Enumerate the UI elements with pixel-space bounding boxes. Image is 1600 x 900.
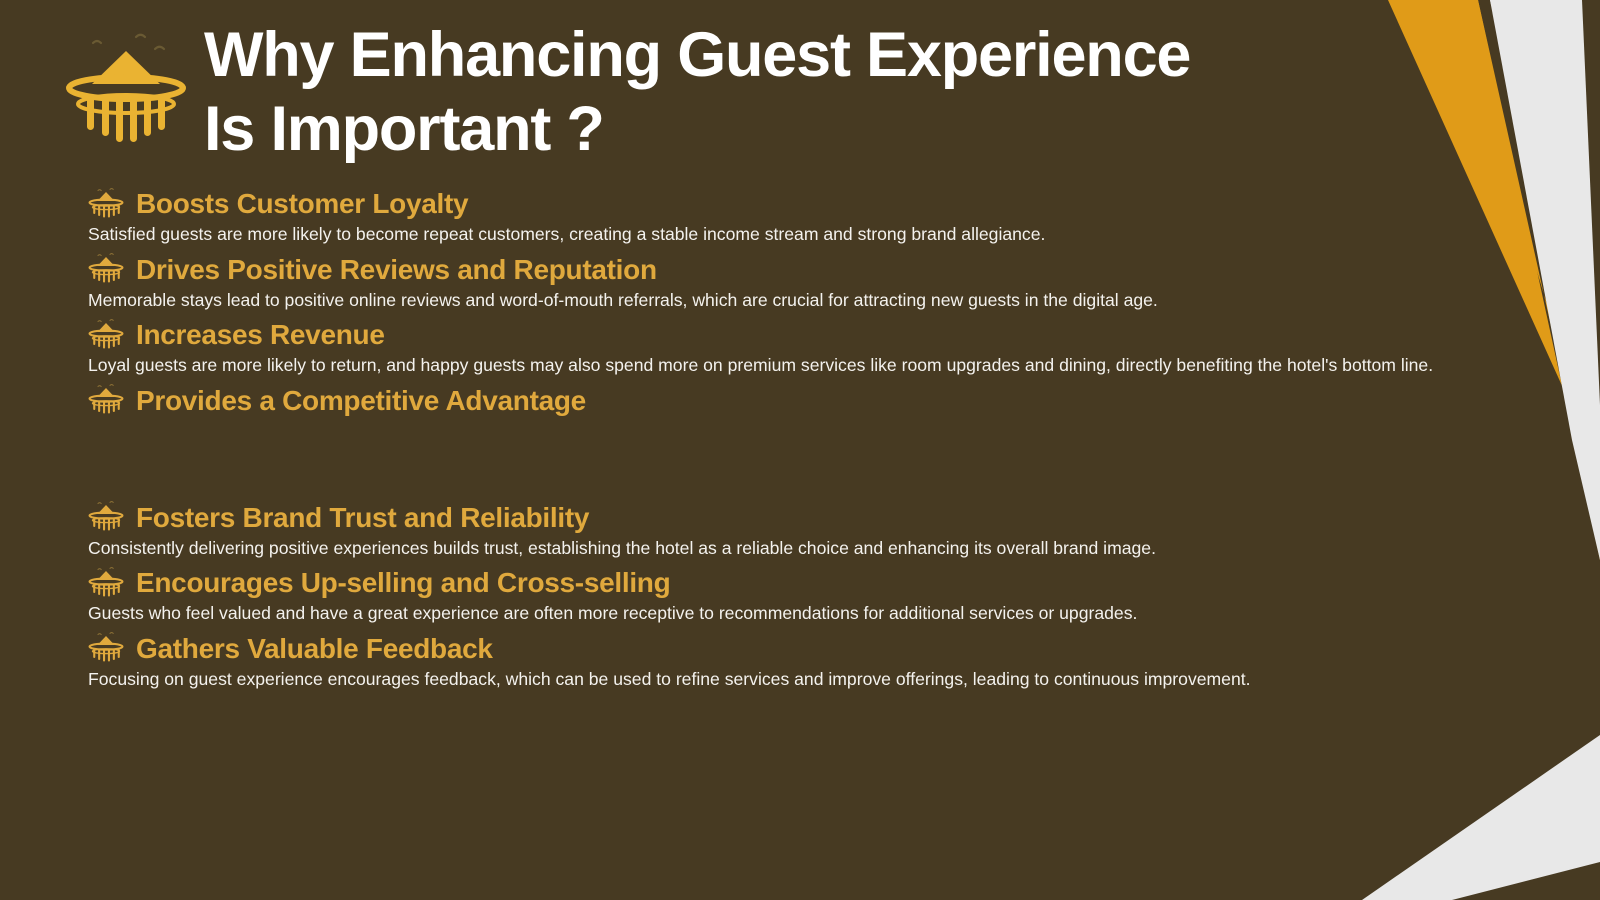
benefit-section-4: Provides a Competitive Advantage [86,383,1492,494]
benefit-body: Memorable stays lead to positive online … [88,289,1492,312]
benefit-body: Satisfied guests are more likely to beco… [88,223,1492,246]
pavilion-logo [60,26,192,144]
benefit-body: Loyal guests are more likely to return, … [88,354,1492,377]
benefit-title: Boosts Customer Loyalty [136,186,468,221]
white-ribbon-upper-body [1490,0,1600,560]
slide-header: Why Enhancing Guest Experience Is Import… [0,0,1190,167]
benefit-body: Consistently delivering positive experie… [88,537,1492,560]
benefit-heading-row: Boosts Customer Loyalty [86,186,1492,221]
benefit-section-2: Drives Positive Reviews and Reputation M… [86,252,1492,312]
benefit-body: Focusing on guest experience encourages … [88,668,1492,691]
benefit-heading-row: Fosters Brand Trust and Reliability [86,500,1492,535]
brown-corner-wedge-bottom [1452,862,1600,900]
benefit-title: Provides a Competitive Advantage [136,383,586,418]
benefit-title: Encourages Up-selling and Cross-selling [136,565,670,600]
benefit-title: Increases Revenue [136,317,385,352]
pavilion-bullet-icon [86,383,126,417]
pavilion-bullet-icon [86,500,126,534]
benefit-body: Guests who feel valued and have a great … [88,602,1492,625]
pavilion-bullet-icon [86,566,126,600]
white-ribbon-upper [1490,0,1600,560]
white-ribbon-lower-body [1362,735,1600,900]
pavilion-bullet-icon [86,187,126,221]
birds-icon [93,35,164,49]
title-line-1: Why Enhancing Guest Experience [204,18,1190,92]
title-line-2: Is Important ? [204,92,1190,166]
pavilion-bullet-icon [86,318,126,352]
benefit-section-6: Encourages Up-selling and Cross-selling … [86,565,1492,625]
benefits-list: Boosts Customer Loyalty Satisfied guests… [86,186,1492,696]
benefit-heading-row: Increases Revenue [86,317,1492,352]
benefit-title: Fosters Brand Trust and Reliability [136,500,589,535]
benefit-heading-row: Drives Positive Reviews and Reputation [86,252,1492,287]
benefit-heading-row: Gathers Valuable Feedback [86,631,1492,666]
pavilion-bullet-icon [86,252,126,286]
benefit-title: Gathers Valuable Feedback [136,631,493,666]
benefit-section-1: Boosts Customer Loyalty Satisfied guests… [86,186,1492,246]
benefit-heading-row: Encourages Up-selling and Cross-selling [86,565,1492,600]
slide-canvas: Why Enhancing Guest Experience Is Import… [0,0,1600,900]
benefit-heading-row: Provides a Competitive Advantage [86,383,1492,418]
page-title: Why Enhancing Guest Experience Is Import… [204,18,1190,167]
brown-corner-wedge-top [1582,0,1600,405]
benefit-title: Drives Positive Reviews and Reputation [136,252,657,287]
pavilion-bullet-icon [86,631,126,665]
benefit-section-7: Gathers Valuable Feedback Focusing on gu… [86,631,1492,691]
white-ribbon-lower [1430,760,1600,900]
pillars [87,96,165,142]
benefit-section-3: Increases Revenue Loyal guests are more … [86,317,1492,377]
benefit-body [88,420,1492,494]
benefit-section-5: Fosters Brand Trust and Reliability Cons… [86,500,1492,560]
